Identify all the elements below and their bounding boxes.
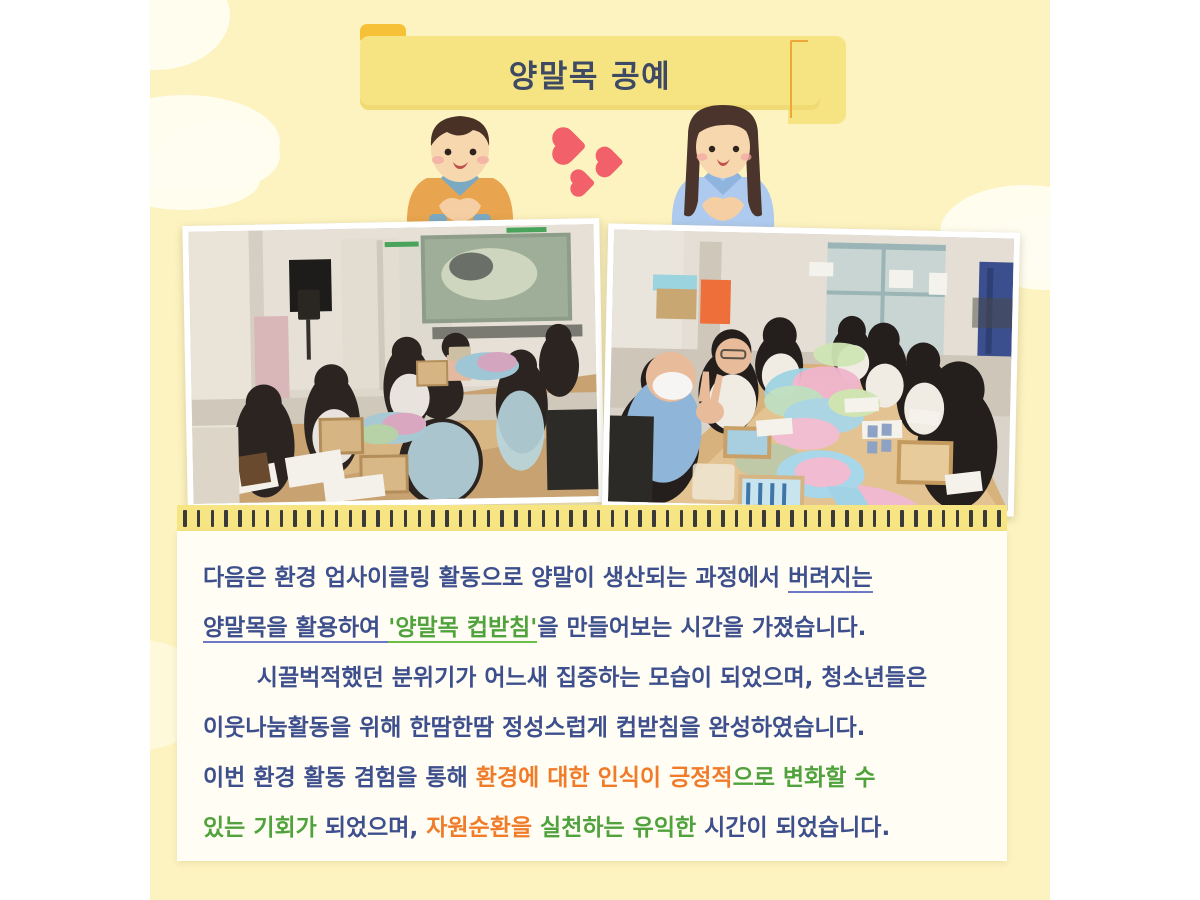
perforation-tick-icon [404, 510, 408, 527]
description-panel: 다음은 환경 업사이클링 활동으로 양말이 생산되는 과정에서 버려지는양말목을… [177, 531, 1007, 861]
perforation-tick-icon [224, 510, 228, 527]
perforation-tick-icon [528, 510, 532, 527]
perforation-tick-icon [983, 510, 987, 527]
perforation-tick-icon [969, 510, 973, 527]
description-segment: 양말목을 활용하여 [203, 615, 388, 643]
perforation-tick-icon [459, 510, 463, 527]
perforation-tick-icon [914, 510, 918, 527]
description-segment: '양말목 컵받침' [388, 615, 537, 643]
perforation-tick-icon [900, 510, 904, 527]
perforation-tick-icon [735, 510, 739, 527]
perforation-tick-icon [804, 510, 808, 527]
perforation-tick-icon [252, 510, 256, 527]
heart-icon [598, 149, 623, 174]
perforation-tick-icon [887, 510, 891, 527]
description-line: 이번 환경 활동 겸험을 통해 환경에 대한 인식이 긍정적으로 변화할 수 [203, 753, 981, 803]
perforation-tick-icon [956, 510, 960, 527]
perforation-tick-icon [487, 510, 491, 527]
perforation-tick-icon [473, 510, 477, 527]
cloud-shape [150, 0, 230, 70]
perforation-tick-icon [873, 510, 877, 527]
description-segment: 변화할 수 [783, 765, 876, 791]
perforation-tick-icon [707, 510, 711, 527]
perforation-strip [177, 505, 1007, 531]
perforation-tick-icon [859, 510, 863, 527]
description-segment: 있는 기회가 [203, 815, 325, 841]
perforation-tick-icon [597, 510, 601, 527]
heart-decorations [550, 135, 640, 205]
description-segment: 이웃나눔활동을 위해 한땀한땀 정성스럽게 컵받침을 완성하였습니다. [203, 715, 865, 741]
description-line: 다음은 환경 업사이클링 활동으로 양말이 생산되는 과정에서 버려지는 [203, 553, 981, 603]
perforation-tick-icon [583, 510, 587, 527]
description-segment: 환경에 대한 인식이 긍정적 [476, 765, 733, 791]
description-segment: 실천하는 유익한 [532, 815, 696, 841]
classroom-lecture-photo [182, 218, 604, 510]
perforation-tick-icon [183, 510, 187, 527]
perforation-tick-icon [266, 510, 270, 527]
perforation-tick-icon [818, 510, 822, 527]
perforation-tick-icon [762, 510, 766, 527]
girl-character-illustration [658, 105, 788, 230]
page-title: 양말목 공예 [360, 36, 820, 110]
perforation-tick-icon [680, 510, 684, 527]
perforation-tick-icon [845, 510, 849, 527]
description-line: 양말목을 활용하여 '양말목 컵받침'을 만들어보는 시간을 가졌습니다. [203, 603, 981, 653]
perforation-tick-icon [321, 510, 325, 527]
perforation-tick-icon [335, 510, 339, 527]
perforation-tick-icon [942, 510, 946, 527]
boy-character-illustration [395, 110, 525, 230]
perforation-tick-icon [500, 510, 504, 527]
description-segment: 시끌벅적했던 분위기가 어느새 집중하는 모습이 되었으며, 청소년들은 [257, 665, 927, 691]
perforation-tick-icon [611, 510, 615, 527]
perforation-tick-icon [349, 510, 353, 527]
perforation-tick-icon [238, 510, 242, 527]
perforation-tick-icon [831, 510, 835, 527]
perforation-tick-icon [928, 510, 932, 527]
description-segment: 버려지는 [788, 565, 873, 593]
perforation-tick-icon [652, 510, 656, 527]
perforation-tick-icon [293, 510, 297, 527]
heart-icon [555, 130, 586, 161]
perforation-tick-icon [749, 510, 753, 527]
description-segment: 다음은 환경 업사이클링 활동으로 양말이 생산되는 과정에서 [203, 565, 788, 591]
perforation-tick-icon [638, 510, 642, 527]
description-line: 이웃나눔활동을 위해 한땀한땀 정성스럽게 컵받침을 완성하였습니다. [203, 703, 981, 753]
perforation-tick-icon [280, 510, 284, 527]
poster-card: 양말목 공예 [150, 0, 1050, 900]
description-segment: 으로 [733, 765, 783, 791]
description-segment: 을 만들어보는 시간을 가졌습니다. [537, 615, 866, 641]
perforation-tick-icon [776, 510, 780, 527]
description-segment: 시간이 되었습니다. [696, 815, 890, 841]
perforation-tick-icon [625, 510, 629, 527]
perforation-tick-icon [376, 510, 380, 527]
description-line: 시끌벅적했던 분위기가 어느새 집중하는 모습이 되었으며, 청소년들은 [203, 653, 981, 703]
description-segment: 이번 환경 활동 겸험을 통해 [203, 765, 476, 791]
perforation-tick-icon [721, 510, 725, 527]
perforation-tick-icon [997, 510, 1001, 527]
perforation-tick-icon [431, 510, 435, 527]
perforation-tick-icon [307, 510, 311, 527]
perforation-tick-icon [556, 510, 560, 527]
description-segment: 자원순환을 [426, 815, 532, 841]
craft-table-photo [602, 223, 1020, 516]
heart-icon [573, 172, 596, 195]
perforation-tick-icon [390, 510, 394, 527]
description-segment: 되었으며, [325, 815, 426, 841]
perforation-tick-icon [542, 510, 546, 527]
perforation-tick-icon [362, 510, 366, 527]
perforation-tick-icon [445, 510, 449, 527]
perforation-tick-icon [693, 510, 697, 527]
perforation-tick-icon [418, 510, 422, 527]
perforation-tick-icon [666, 510, 670, 527]
description-line: 있는 기회가 되었으며, 자원순환을 실천하는 유익한 시간이 되었습니다. [203, 803, 981, 853]
perforation-tick-icon [197, 510, 201, 527]
perforation-tick-icon [211, 510, 215, 527]
perforation-tick-icon [514, 510, 518, 527]
perforation-tick-icon [790, 510, 794, 527]
perforation-tick-icon [569, 510, 573, 527]
